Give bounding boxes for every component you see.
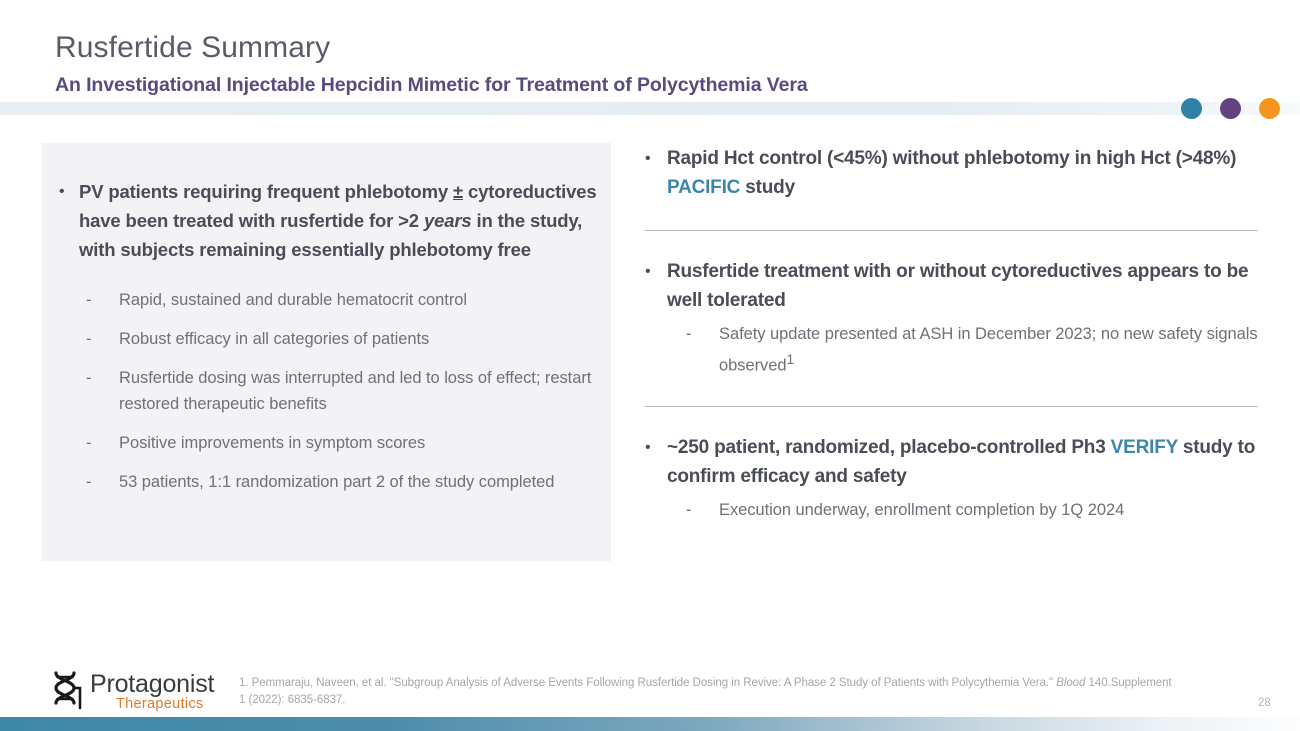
protagonist-logo: Protagonist Therapeutics — [42, 668, 232, 716]
left-summary-panel: • PV patients requiring frequent phlebot… — [42, 143, 611, 561]
logo-tagline: Therapeutics — [116, 696, 203, 712]
dash-marker-icon: - — [86, 430, 119, 456]
rb2-sub-text: Safety update presented at ASH in Decemb… — [719, 325, 1258, 375]
list-item-text: Robust efficacy in all categories of pat… — [119, 326, 601, 352]
list-item: - Rapid, sustained and durable hematocri… — [86, 287, 601, 313]
page-number: 28 — [1258, 697, 1271, 709]
dash-marker-icon: - — [686, 497, 719, 523]
right-block-1-text: Rapid Hct control (<45%) without phlebot… — [667, 144, 1262, 202]
footnote-citation: 1. Pemmaraju, Naveen, et al. "Subgroup A… — [239, 675, 1179, 709]
slide-header: Rusfertide Summary An Investigational In… — [0, 0, 1300, 122]
bullet-dot-icon: • — [59, 177, 79, 206]
dot-teal-icon — [1181, 98, 1202, 119]
dash-marker-icon: - — [86, 365, 119, 391]
list-item-text: Positive improvements in symptom scores — [119, 430, 601, 456]
right-highlights-column: • Rapid Hct control (<45%) without phleb… — [645, 143, 1262, 523]
citation-part1: 1. Pemmaraju, Naveen, et al. "Subgroup A… — [239, 677, 1056, 689]
list-item: - Rusfertide dosing was interrupted and … — [86, 365, 601, 417]
list-item: - Execution underway, enrollment complet… — [686, 497, 1262, 523]
citation-journal: Blood — [1056, 677, 1085, 689]
rb1-part1: Rapid Hct control (<45%) without phlebot… — [667, 148, 1236, 169]
lmb-underlined: ± — [453, 181, 463, 202]
bottom-accent-bar — [0, 717, 1300, 731]
right-block-tolerability: • Rusfertide treatment with or without c… — [645, 257, 1262, 379]
list-item-text: 53 patients, 1:1 randomization part 2 of… — [119, 469, 601, 495]
dash-marker-icon: - — [86, 287, 119, 313]
pacific-study-label: PACIFIC — [667, 177, 740, 198]
header-divider-band — [0, 102, 1300, 115]
right-block-1-bullet: • Rapid Hct control (<45%) without phleb… — [645, 144, 1262, 202]
page-subtitle: An Investigational Injectable Hepcidin M… — [55, 74, 808, 97]
left-main-bullet: • PV patients requiring frequent phlebot… — [59, 177, 604, 264]
dash-marker-icon: - — [686, 321, 719, 347]
dot-orange-icon — [1259, 98, 1280, 119]
page-title: Rusfertide Summary — [55, 31, 330, 65]
right-block-3-bullet: • ~250 patient, randomized, placebo-cont… — [645, 433, 1262, 491]
logo-wordmark: Protagonist — [90, 670, 214, 699]
verify-study-label: VERIFY — [1111, 437, 1178, 458]
section-divider — [645, 406, 1258, 407]
right-block-verify: • ~250 patient, randomized, placebo-cont… — [645, 433, 1262, 523]
bullet-dot-icon: • — [645, 144, 667, 173]
rb3-part1: ~250 patient, randomized, placebo-contro… — [667, 437, 1111, 458]
right-block-2-bullet: • Rusfertide treatment with or without c… — [645, 257, 1262, 315]
left-main-bullet-text: PV patients requiring frequent phlebotom… — [79, 177, 604, 264]
helix-logo-icon — [44, 668, 88, 714]
bullet-dot-icon: • — [645, 257, 667, 286]
lmb-italic: years — [424, 210, 472, 231]
dash-marker-icon: - — [86, 326, 119, 352]
list-item-text: Rusfertide dosing was interrupted and le… — [119, 365, 601, 417]
right-block-3-text: ~250 patient, randomized, placebo-contro… — [667, 433, 1262, 491]
list-item: - Positive improvements in symptom score… — [86, 430, 601, 456]
right-block-2-heading: Rusfertide treatment with or without cyt… — [667, 257, 1262, 315]
list-item: - 53 patients, 1:1 randomization part 2 … — [86, 469, 601, 495]
footnote-ref: 1 — [786, 352, 794, 367]
rb1-part2: study — [740, 177, 795, 198]
section-divider — [645, 230, 1258, 231]
dot-purple-icon — [1220, 98, 1241, 119]
list-item-text: Execution underway, enrollment completio… — [719, 497, 1262, 523]
lmb-part1: PV patients requiring frequent phlebotom… — [79, 181, 453, 202]
list-item: - Robust efficacy in all categories of p… — [86, 326, 601, 352]
list-item-text: Rapid, sustained and durable hematocrit … — [119, 287, 601, 313]
list-item-text: Safety update presented at ASH in Decemb… — [719, 321, 1262, 379]
bullet-dot-icon: • — [645, 433, 667, 462]
right-block-pacific: • Rapid Hct control (<45%) without phleb… — [645, 143, 1262, 202]
left-sub-bullet-list: - Rapid, sustained and durable hematocri… — [42, 287, 611, 495]
list-item: - Safety update presented at ASH in Dece… — [686, 321, 1262, 379]
dash-marker-icon: - — [86, 469, 119, 495]
